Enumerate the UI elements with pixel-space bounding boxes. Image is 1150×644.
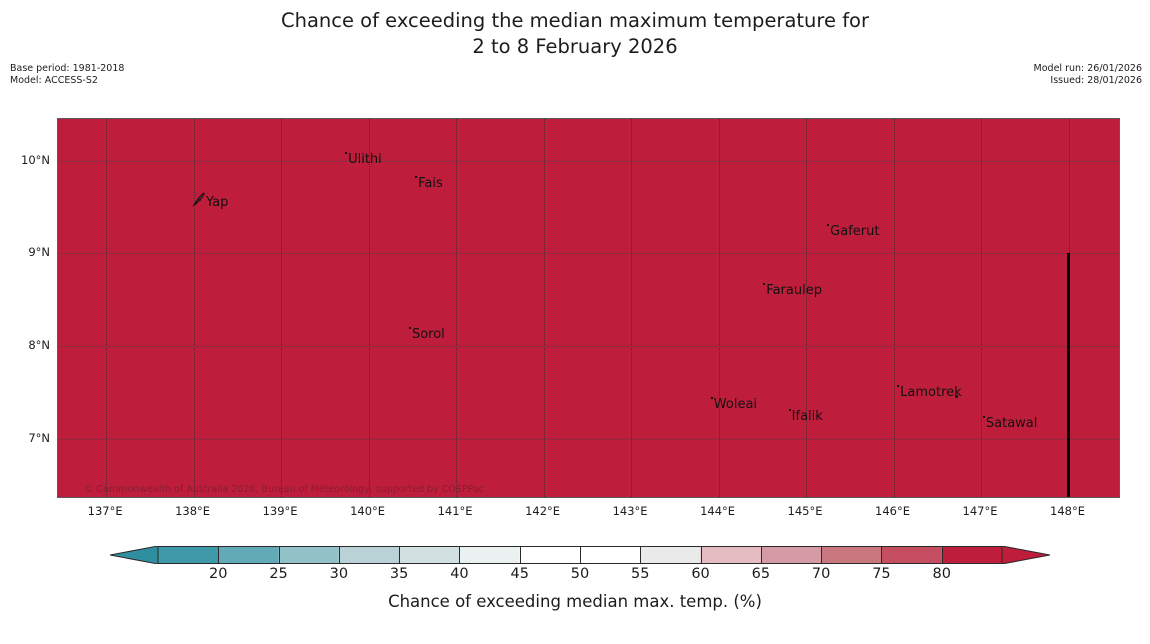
- metadata-right: Model run: 26/01/2026Issued: 28/01/2026: [1034, 63, 1142, 87]
- colorbar-tick-mark: [881, 546, 882, 564]
- colorbar-tick-label: 80: [932, 566, 950, 582]
- longitude-gridline: [806, 119, 807, 497]
- x-tick-label: 148°E: [1050, 504, 1085, 518]
- copyright-credit: © Commonwealth of Australia 2026, Bureau…: [84, 484, 484, 495]
- place-label-gaferut: Gaferut: [827, 224, 879, 238]
- colorbar-tick-mark: [701, 546, 702, 564]
- longitude-gridline: [544, 119, 545, 497]
- colorbar-tick-mark: [640, 546, 641, 564]
- latitude-gridline: [58, 346, 1119, 347]
- place-label-yap: Yap: [206, 196, 228, 209]
- model-text: Model: ACCESS-S2: [10, 75, 98, 86]
- colorbar-tick-label: 20: [209, 566, 227, 582]
- colorbar-tick-mark: [761, 546, 762, 564]
- y-tick-label: 8°N: [8, 338, 50, 352]
- place-label-ifalik: Ifalik: [789, 409, 823, 423]
- longitude-gridline: [281, 119, 282, 497]
- longitude-gridline: [894, 119, 895, 497]
- colorbar-tick-mark: [942, 546, 943, 564]
- unlabeled-islet-dot-icon: [955, 395, 958, 398]
- colorbar-tick-label: 40: [450, 566, 468, 582]
- place-label-woleai: Woleai: [711, 397, 757, 411]
- longitude-gridline: [981, 119, 982, 497]
- base-period-text: Base period: 1981-2018: [10, 63, 124, 74]
- place-label-text: Ifalik: [792, 409, 823, 424]
- colorbar-tick-label: 75: [872, 566, 890, 582]
- title-line-2: 2 to 8 February 2026: [472, 35, 677, 58]
- colorbar-tick-mark: [399, 546, 400, 564]
- colorbar-tick-label: 55: [631, 566, 649, 582]
- island-outline-yap: [191, 191, 207, 207]
- x-tick-label: 142°E: [525, 504, 560, 518]
- longitude-gridline: [194, 119, 195, 497]
- colorbar-tick-mark: [459, 546, 460, 564]
- forecast-map[interactable]: YapUlithiFaisSorolGaferutFaraulepWoleaiI…: [57, 118, 1120, 498]
- place-label-text: Satawal: [986, 416, 1038, 431]
- place-label-text: Gaferut: [830, 224, 879, 239]
- y-tick-label: 7°N: [8, 431, 50, 445]
- place-marker-dot-icon: [415, 176, 417, 178]
- colorbar-tick-mark: [580, 546, 581, 564]
- latitude-gridline: [58, 253, 1119, 254]
- x-tick-label: 143°E: [613, 504, 648, 518]
- x-tick-label: 140°E: [350, 504, 385, 518]
- colorbar-label: Chance of exceeding median max. temp. (%…: [0, 592, 1150, 611]
- place-label-text: Woleai: [714, 397, 757, 412]
- colorbar-tick-label: 25: [269, 566, 287, 582]
- colorbar-tick-label: 45: [510, 566, 528, 582]
- place-label-text: Faraulep: [766, 283, 822, 298]
- place-label-satawal: Satawal: [983, 416, 1038, 430]
- latitude-gridline: [58, 161, 1119, 162]
- y-tick-label: 9°N: [8, 245, 50, 259]
- longitude-gridline: [369, 119, 370, 497]
- x-tick-label: 144°E: [700, 504, 735, 518]
- place-label-sorol: Sorol: [409, 327, 445, 341]
- place-marker-dot-icon: [897, 385, 899, 387]
- colorbar-tick-mark: [218, 546, 219, 564]
- longitude-gridline: [631, 119, 632, 497]
- place-label-lamotrek: Lamotrek: [897, 385, 962, 399]
- x-tick-label: 147°E: [963, 504, 998, 518]
- x-tick-label: 141°E: [438, 504, 473, 518]
- place-marker-dot-icon: [763, 283, 765, 285]
- place-label-text: Lamotrek: [900, 385, 962, 400]
- longitude-gridline: [719, 119, 720, 497]
- place-label-text: Ulithi: [348, 152, 382, 167]
- colorbar-tick-label: 65: [752, 566, 770, 582]
- colorbar-tick-label: 50: [571, 566, 589, 582]
- x-tick-label: 145°E: [788, 504, 823, 518]
- issued-text: Issued: 28/01/2026: [1050, 75, 1142, 86]
- x-tick-label: 139°E: [263, 504, 298, 518]
- title-line-1: Chance of exceeding the median maximum t…: [281, 9, 869, 32]
- x-tick-label: 137°E: [88, 504, 123, 518]
- place-label-ulithi: Ulithi: [345, 152, 382, 166]
- metadata-left: Base period: 1981-2018Model: ACCESS-S2: [10, 63, 124, 87]
- longitude-gridline: [456, 119, 457, 497]
- place-marker-dot-icon: [789, 409, 791, 411]
- colorbar-tick-mark: [339, 546, 340, 564]
- longitude-gridline: [106, 119, 107, 497]
- forecast-boundary-segment: [1067, 253, 1070, 498]
- place-marker-dot-icon: [409, 327, 411, 329]
- colorbar-tick-mark: [821, 546, 822, 564]
- colorbar-tick-label: 30: [330, 566, 348, 582]
- colorbar-tick-label: 60: [691, 566, 709, 582]
- x-tick-label: 146°E: [875, 504, 910, 518]
- y-tick-label: 10°N: [8, 153, 50, 167]
- place-label-text: Yap: [206, 195, 228, 210]
- place-label-text: Sorol: [412, 327, 445, 342]
- place-label-fais: Fais: [415, 176, 443, 190]
- colorbar-tick-mark: [279, 546, 280, 564]
- colorbar-tick-label: 35: [390, 566, 408, 582]
- place-marker-dot-icon: [983, 416, 985, 418]
- colorbar-tick-mark: [520, 546, 521, 564]
- model-run-text: Model run: 26/01/2026: [1034, 63, 1142, 74]
- place-marker-dot-icon: [827, 224, 829, 226]
- place-label-faraulep: Faraulep: [763, 283, 822, 297]
- colorbar-tick-label: 70: [812, 566, 830, 582]
- latitude-gridline: [58, 439, 1119, 440]
- page-title: Chance of exceeding the median maximum t…: [0, 8, 1150, 60]
- place-marker-dot-icon: [345, 152, 347, 154]
- x-tick-label: 138°E: [175, 504, 210, 518]
- place-label-text: Fais: [418, 176, 443, 191]
- place-marker-dot-icon: [711, 397, 713, 399]
